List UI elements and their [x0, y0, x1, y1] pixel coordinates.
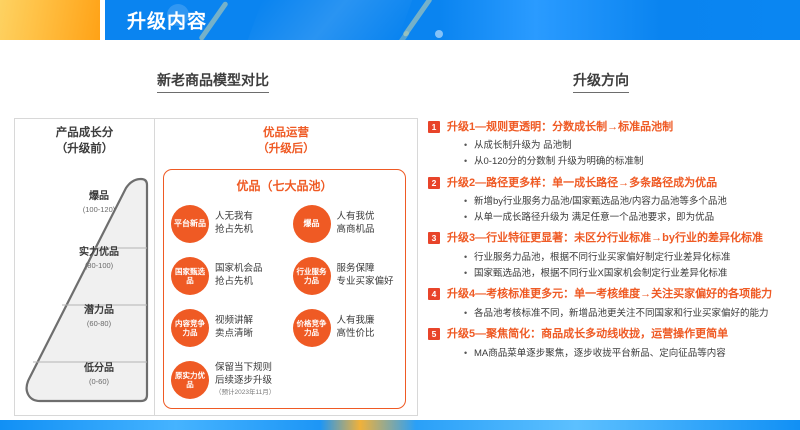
upgrade-bullet: MA商品菜单逐步聚焦，逐步收拢平台新品、定向征品等内容: [464, 346, 794, 362]
pool-item-empty: [286, 354, 408, 406]
before-heading-line1: 产品成长分: [15, 126, 154, 142]
after-heading-line2: （升级后）: [155, 142, 417, 158]
section-heading-upgrades: 升级方向: [573, 70, 629, 93]
pool-item[interactable]: 行业服务力品 服务保障 专业买家偏好: [286, 250, 408, 302]
pool-desc-line2: 高性价比: [337, 328, 375, 339]
product-pool-title: 优品（七大品池）: [164, 177, 405, 194]
upgrade-item-header: 3 升级3—行业特征更显著：未区分行业标准→by行业的差异化标准: [428, 231, 794, 246]
pool-desc-line2: 高商机品: [337, 224, 375, 235]
pool-desc-line1: 服务保障: [337, 263, 375, 274]
pool-desc-line1: 保留当下规则: [215, 362, 272, 373]
pool-bubble: 爆品: [293, 205, 331, 243]
pool-item[interactable]: 原实力优品 保留当下规则 后续逐步升级 （预计2023年11月）: [164, 354, 286, 406]
banner-wedge-decor: [248, 0, 413, 40]
after-pane: 优品运营 （升级后） 优品（七大品池） 平台新品 人无我有 抢占先机 爆品: [155, 119, 417, 415]
upgrade-title: 升级3—行业特征更显著：未区分行业标准→by行业的差异化标准: [447, 231, 794, 246]
upgrade-bullets: 新增by行业服务力品池/国家甄选品池/内容力品池等多个品池 从单一成长路径升级为…: [464, 194, 794, 225]
product-pool-box: 优品（七大品池） 平台新品 人无我有 抢占先机 爆品 人有我优 高商机品: [163, 169, 406, 409]
pool-description: 服务保障 专业买家偏好: [337, 263, 394, 289]
before-pane: 产品成长分 （升级前） 爆品 (100-120) 实力优品 (80-100): [15, 119, 155, 415]
pyramid-tier: 实力优品 (80-100): [56, 247, 142, 270]
upgrade-number-badge: 4: [428, 288, 440, 300]
upgrade-bullet: 各品池考核标准不同，新增品池更关注不同国家和行业买家偏好的能力: [464, 306, 794, 322]
pool-desc-line1: 人有我优: [337, 211, 375, 222]
upgrade-item-header: 4 升级4—考核标准更多元：单一考核维度→关注买家偏好的各项能力: [428, 287, 794, 302]
bottom-accent-bar: [0, 420, 800, 430]
upgrade-bullets: 从成长制升级为 品池制 从0-120分的分数制 升级为明确的标准制: [464, 138, 794, 169]
pool-desc-line2: 卖点清晰: [215, 328, 253, 339]
upgrade-bullet: 从0-120分的分数制 升级为明确的标准制: [464, 154, 794, 170]
upgrade-item: 3 升级3—行业特征更显著：未区分行业标准→by行业的差异化标准 行业服务力品池…: [428, 231, 794, 281]
pyramid-tier-label: 潜力品: [84, 305, 114, 316]
slide-root: 升级内容 新老商品模型对比 升级方向 产品成长分 （升级前） 爆品 (10: [0, 0, 800, 430]
pyramid-tier-range: (60-80): [56, 319, 142, 328]
pool-description: 人有我优 高商机品: [337, 211, 375, 237]
upgrade-number-badge: 5: [428, 328, 440, 340]
pool-desc-line1: 视频讲解: [215, 315, 253, 326]
pyramid-tier-range: (0-60): [56, 377, 142, 386]
upgrade-bullets: MA商品菜单逐步聚焦，逐步收拢平台新品、定向征品等内容: [464, 346, 794, 362]
pool-desc-line1: 人有我廉: [337, 315, 375, 326]
pool-desc-line2: 抢占先机: [215, 224, 253, 235]
pool-item[interactable]: 国家甄选品 国家机会品 抢占先机: [164, 250, 286, 302]
pyramid-tier-label: 实力优品: [79, 247, 119, 258]
pool-bubble: 国家甄选品: [171, 257, 209, 295]
pool-desc-line2: 专业买家偏好: [337, 276, 394, 287]
upgrade-title: 升级1—规则更透明：分数成长制→标准品池制: [447, 120, 794, 135]
pool-description: 保留当下规则 后续逐步升级 （预计2023年11月）: [215, 362, 275, 397]
pool-bubble: 价格竞争力品: [293, 309, 331, 347]
pool-item[interactable]: 内容竞争力品 视频讲解 卖点清晰: [164, 302, 286, 354]
pyramid-tier: 低分品 (0-60): [56, 363, 142, 386]
slide-title: 升级内容: [127, 7, 207, 34]
upgrade-title: 升级2—路径更多样：单一成长路径→多条路径成为优品: [447, 176, 794, 191]
before-heading-line2: （升级前）: [15, 142, 154, 158]
pool-desc-note: （预计2023年11月）: [215, 389, 275, 398]
pool-description: 人无我有 抢占先机: [215, 211, 253, 237]
pool-bubble: 行业服务力品: [293, 257, 331, 295]
upgrade-bullets: 各品池考核标准不同，新增品池更关注不同国家和行业买家偏好的能力: [464, 306, 794, 322]
top-banner: 升级内容: [0, 0, 800, 40]
upgrade-bullet: 行业服务力品池，根据不同行业买家偏好制定行业差异化标准: [464, 250, 794, 266]
product-pool-grid: 平台新品 人无我有 抢占先机 爆品 人有我优 高商机品: [164, 198, 407, 406]
upgrade-item: 4 升级4—考核标准更多元：单一考核维度→关注买家偏好的各项能力 各品池考核标准…: [428, 287, 794, 321]
pool-desc-line2: 抢占先机: [215, 276, 253, 287]
upgrade-number-badge: 1: [428, 121, 440, 133]
upgrade-title: 升级5—聚焦简化：商品成长多动线收拢，运营操作更简单: [447, 327, 794, 342]
pyramid-tier-label: 低分品: [84, 363, 114, 374]
upgrade-bullet: 从单一成长路径升级为 满足任意一个品池要求，即为优品: [464, 210, 794, 226]
pool-desc-line2: 后续逐步升级: [215, 375, 272, 386]
banner-blue-strip: 升级内容: [105, 0, 800, 40]
upgrade-bullet: 新增by行业服务力品池/国家甄选品池/内容力品池等多个品池: [464, 194, 794, 210]
banner-orange-block: [0, 0, 100, 40]
upgrade-item-header: 5 升级5—聚焦简化：商品成长多动线收拢，运营操作更简单: [428, 327, 794, 342]
pool-description: 视频讲解 卖点清晰: [215, 315, 253, 341]
pool-desc-line1: 人无我有: [215, 211, 253, 222]
upgrade-list: 1 升级1—规则更透明：分数成长制→标准品池制 从成长制升级为 品池制 从0-1…: [428, 120, 794, 367]
after-heading-line1: 优品运营: [155, 126, 417, 142]
pool-description: 人有我廉 高性价比: [337, 315, 375, 341]
upgrade-item: 1 升级1—规则更透明：分数成长制→标准品池制 从成长制升级为 品池制 从0-1…: [428, 120, 794, 170]
pool-bubble: 内容竞争力品: [171, 309, 209, 347]
pool-item[interactable]: 平台新品 人无我有 抢占先机: [164, 198, 286, 250]
upgrade-item: 5 升级5—聚焦简化：商品成长多动线收拢，运营操作更简单 MA商品菜单逐步聚焦，…: [428, 327, 794, 361]
pool-description: 国家机会品 抢占先机: [215, 263, 263, 289]
upgrade-bullets: 行业服务力品池，根据不同行业买家偏好制定行业差异化标准 国家甄选品池，根据不同行…: [464, 250, 794, 281]
banner-dot-decor-icon: [435, 30, 443, 38]
pyramid-tier-range: (100-120): [56, 205, 142, 214]
upgrade-number-badge: 3: [428, 232, 440, 244]
growth-score-pyramid: 爆品 (100-120) 实力优品 (80-100) 潜力品 (60-80) 低…: [17, 171, 151, 409]
pool-item[interactable]: 价格竞争力品 人有我廉 高性价比: [286, 302, 408, 354]
comparison-card: 产品成长分 （升级前） 爆品 (100-120) 实力优品 (80-100): [14, 118, 418, 416]
upgrade-bullet: 国家甄选品池，根据不同行业X国家机会制定行业差异化标准: [464, 266, 794, 282]
section-heading-comparison: 新老商品模型对比: [157, 70, 269, 93]
pyramid-tier: 爆品 (100-120): [56, 191, 142, 214]
before-pane-heading: 产品成长分 （升级前）: [15, 119, 154, 157]
upgrade-title: 升级4—考核标准更多元：单一考核维度→关注买家偏好的各项能力: [447, 287, 794, 302]
upgrade-item: 2 升级2—路径更多样：单一成长路径→多条路径成为优品 新增by行业服务力品池/…: [428, 176, 794, 226]
pool-item[interactable]: 爆品 人有我优 高商机品: [286, 198, 408, 250]
pool-desc-line1: 国家机会品: [215, 263, 263, 274]
upgrade-number-badge: 2: [428, 177, 440, 189]
pyramid-tier: 潜力品 (60-80): [56, 305, 142, 328]
pool-bubble: 平台新品: [171, 205, 209, 243]
pool-bubble: 原实力优品: [171, 361, 209, 399]
pyramid-tier-range: (80-100): [56, 261, 142, 270]
pyramid-tier-label: 爆品: [89, 191, 109, 202]
upgrade-item-header: 2 升级2—路径更多样：单一成长路径→多条路径成为优品: [428, 176, 794, 191]
after-pane-heading: 优品运营 （升级后）: [155, 119, 417, 157]
upgrade-item-header: 1 升级1—规则更透明：分数成长制→标准品池制: [428, 120, 794, 135]
upgrade-bullet: 从成长制升级为 品池制: [464, 138, 794, 154]
